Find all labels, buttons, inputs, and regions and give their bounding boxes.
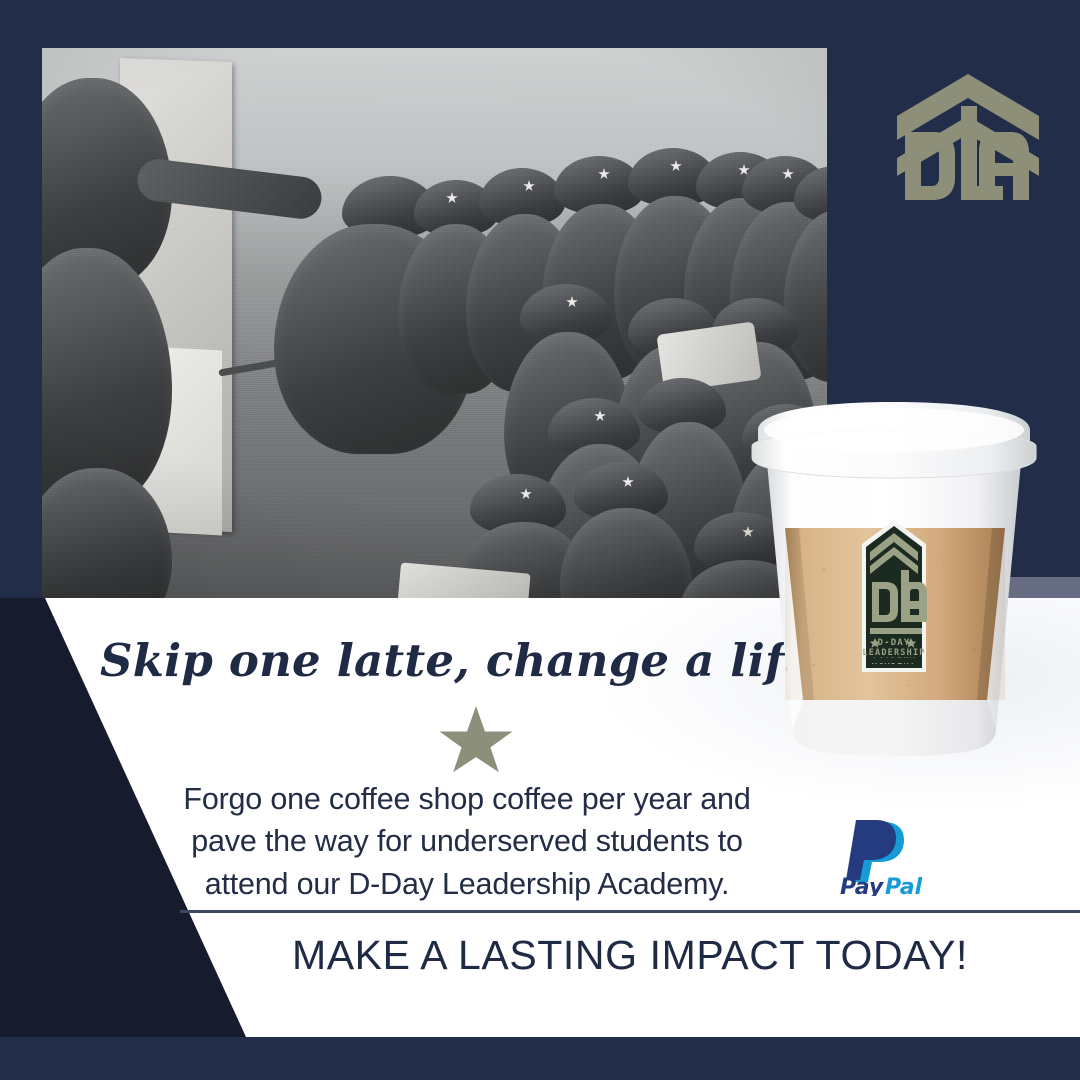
sleeve-dla-badge: D-DAY LEADERSHIP ACADEMY [862, 520, 927, 672]
call-to-action-text: MAKE A LASTING IMPACT TODAY! [180, 932, 1080, 979]
social-graphic-canvas: Skip one latte, change a life Forgo one … [0, 0, 1080, 1080]
badge-line-dday: D-DAY [877, 638, 910, 648]
archival-photo [42, 48, 827, 598]
divider [180, 910, 1080, 913]
body-paragraph: Forgo one coffee shop coffee per year an… [150, 778, 784, 905]
paypal-logo[interactable]: Pay Pal [838, 818, 958, 896]
coffee-cup-illustration: D-DAY LEADERSHIP ACADEMY [744, 400, 1044, 790]
dla-logo [893, 70, 1043, 202]
paypal-wordmark-pal: Pal [885, 875, 923, 896]
page-title: Skip one latte, change a life [100, 634, 790, 687]
paypal-logo-icon: Pay Pal [838, 818, 958, 896]
paypal-wordmark-pay: Pay [840, 875, 885, 896]
coffee-cup-mockup: D-DAY LEADERSHIP ACADEMY [744, 400, 1044, 790]
cup-lid [752, 402, 1036, 478]
photo-vignette [42, 48, 827, 598]
dla-logo-icon [893, 70, 1043, 202]
